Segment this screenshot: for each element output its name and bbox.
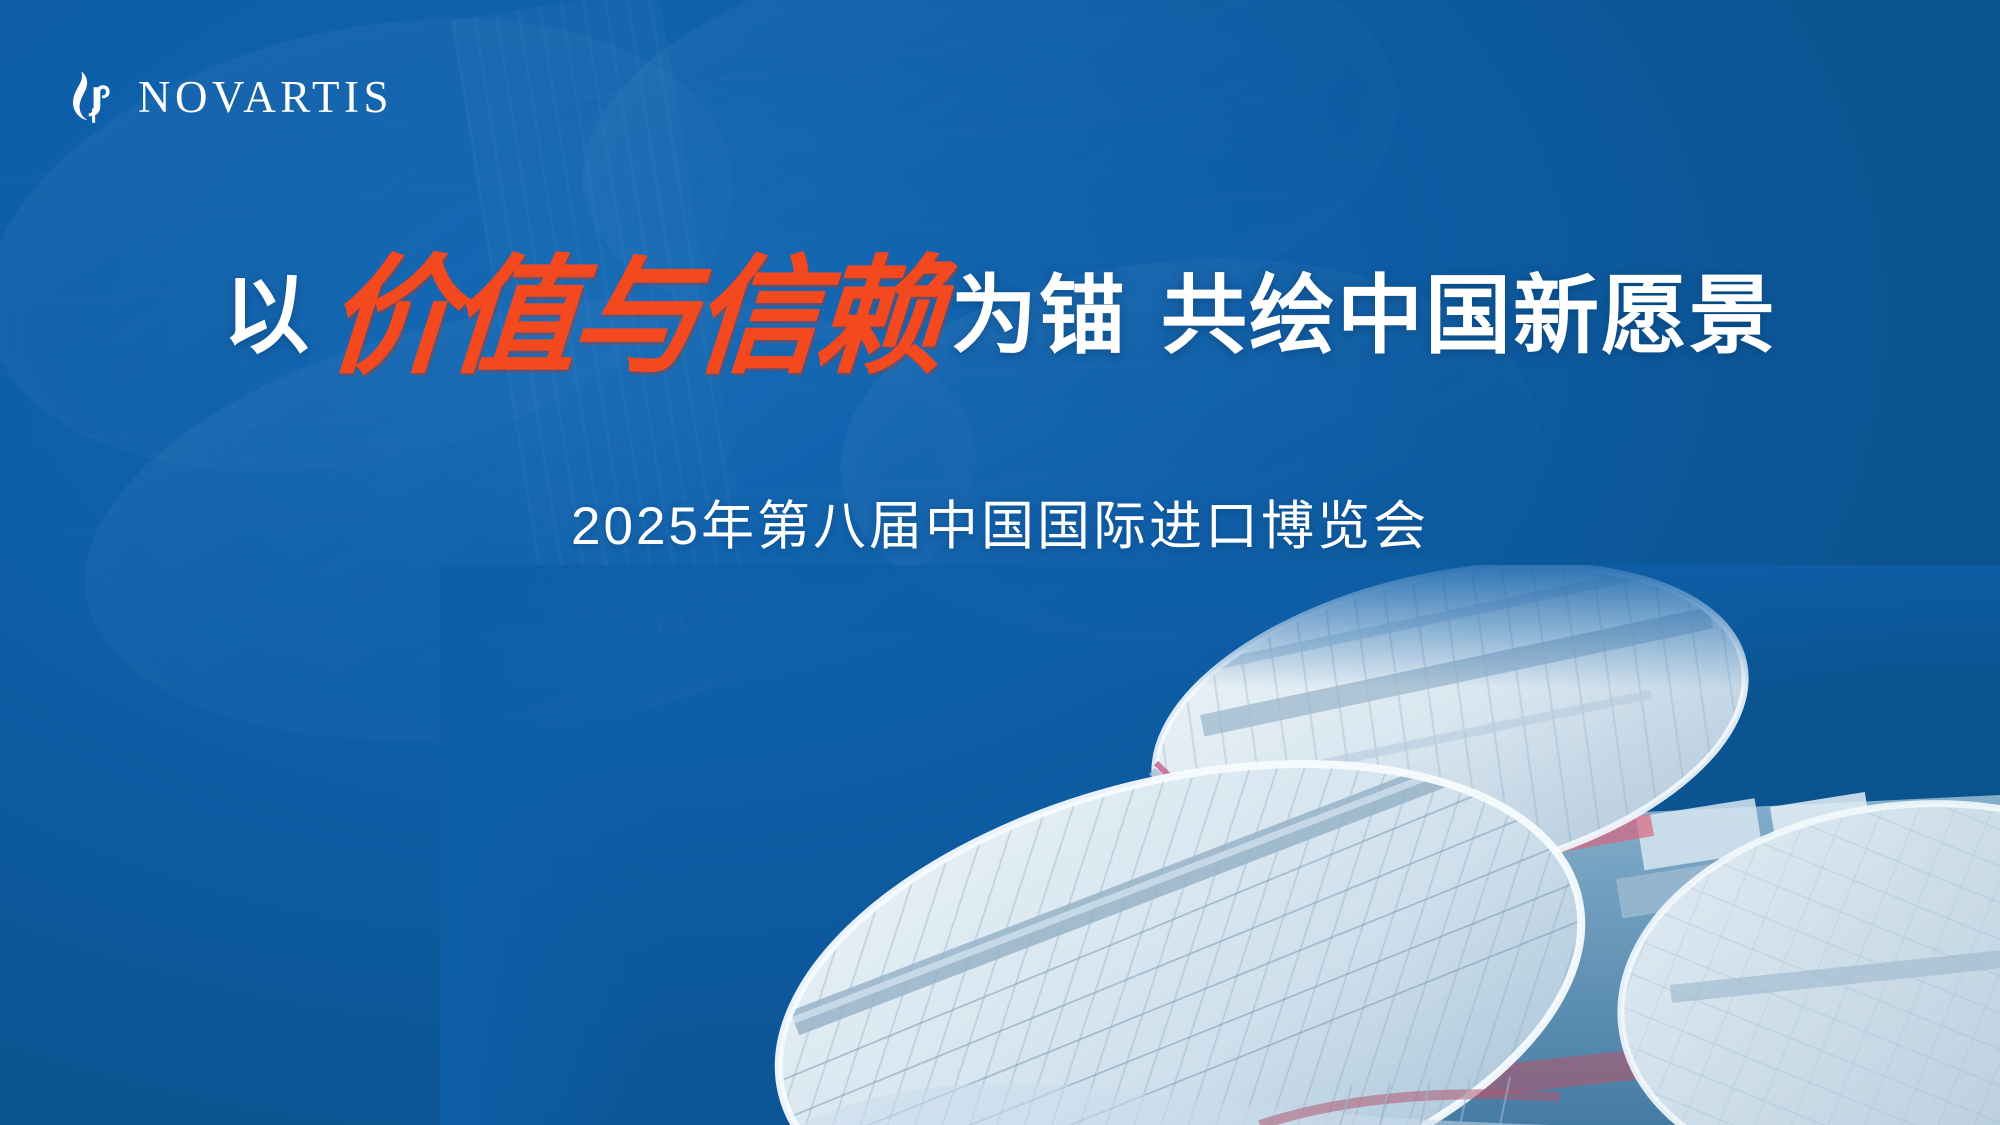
headline-accent-calligraphy: 价值与信赖 xyxy=(323,254,942,382)
subtitle: 2025年第八届中国国际进口博览会 xyxy=(0,484,2000,560)
background-gradient xyxy=(0,0,2000,1125)
headline-tail-b: 共绘中国新愿景 xyxy=(1161,273,1777,359)
novartis-flame-icon xyxy=(72,70,118,124)
novartis-wordmark: NOVARTIS xyxy=(138,75,393,120)
key-visual-poster: NOVARTIS 以价值与信赖为锚共绘中国新愿景 2025年第八届中国国际进口博… xyxy=(0,0,2000,1125)
headline-tail-a: 为锚 xyxy=(951,273,1127,359)
novartis-logo: NOVARTIS xyxy=(72,70,393,124)
headline-lead: 以 xyxy=(223,273,311,359)
headline: 以价值与信赖为锚共绘中国新愿景 xyxy=(0,238,2000,366)
